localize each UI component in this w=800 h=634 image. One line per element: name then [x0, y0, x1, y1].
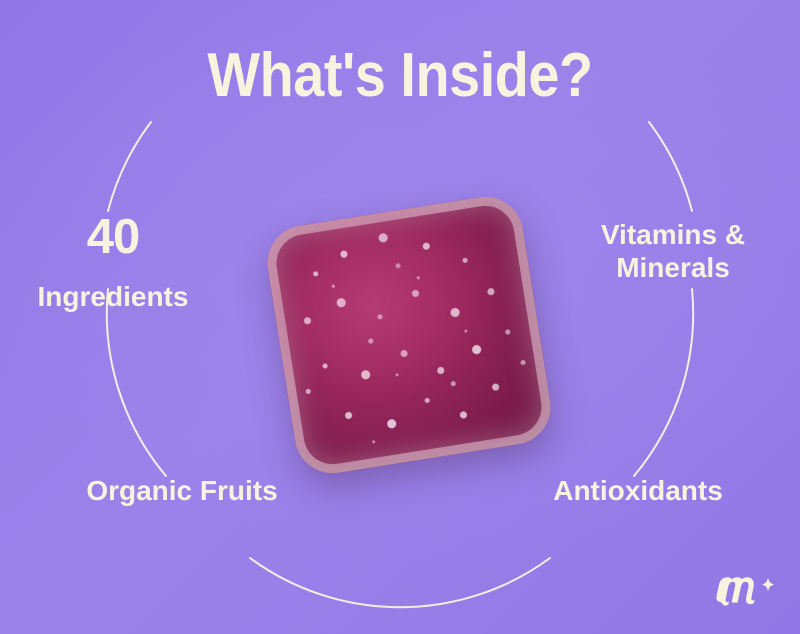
- logo-sparkle-icon: [762, 578, 774, 592]
- callout-ingredients: 40 Ingredients: [8, 193, 218, 331]
- arc-top-right: [649, 122, 692, 211]
- brand-logo[interactable]: [716, 565, 778, 607]
- ingredients-label: Ingredients: [8, 281, 218, 313]
- callout-organic-fruits: Organic Fruits: [62, 474, 302, 507]
- arc-right: [634, 289, 693, 476]
- page-title: What's Inside?: [40, 45, 760, 107]
- arc-bottom: [250, 558, 550, 607]
- callout-antioxidants: Antioxidants: [528, 474, 748, 507]
- logo-m-icon: [717, 577, 755, 606]
- gummy-shape: [262, 191, 556, 478]
- ingredients-count: 40: [8, 211, 218, 263]
- infographic-canvas: What's Inside? 40 Ingredients Vitamins &…: [0, 0, 800, 634]
- product-image: [258, 180, 558, 490]
- callout-vitamins-minerals: Vitamins & Minerals: [578, 218, 768, 284]
